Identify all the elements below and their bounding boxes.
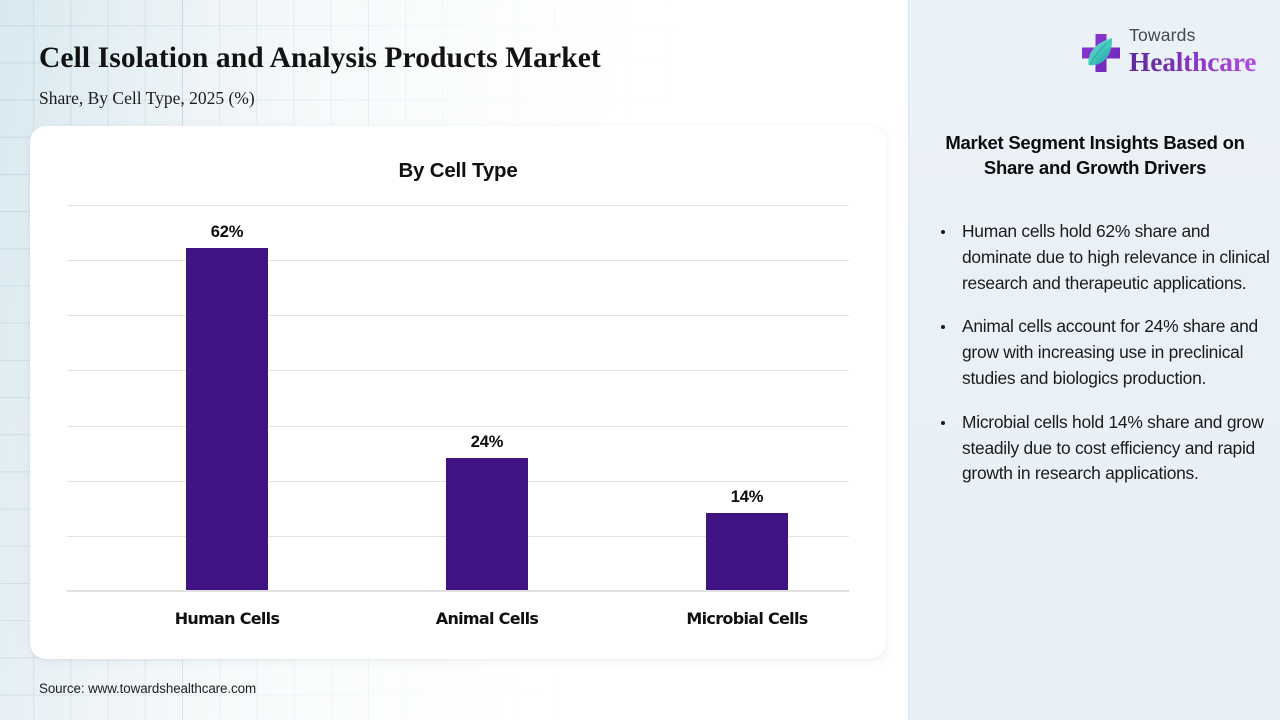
bar-value-label: 14% <box>687 488 807 507</box>
bar-value-label: 62% <box>167 223 287 242</box>
list-item: Animal cells account for 24% share and g… <box>925 314 1271 391</box>
brand-logo: Towards Healthcare <box>1077 24 1253 82</box>
gridline <box>67 315 849 316</box>
x-axis-line <box>67 590 849 591</box>
logo-line-healthcare: Healthcare <box>1129 46 1256 77</box>
page-title: Cell Isolation and Analysis Products Mar… <box>39 42 601 75</box>
gridline <box>67 426 849 427</box>
source-note: Source: www.towardshealthcare.com <box>39 681 256 696</box>
x-axis-label: Microbial Cells <box>662 609 832 628</box>
bar-microbial-cells[interactable] <box>706 513 788 590</box>
list-item: Microbial cells hold 14% share and grow … <box>925 410 1271 487</box>
chart-card: By Cell Type 62%24%14% Human CellsAnimal… <box>30 126 886 659</box>
insights-title: Market Segment Insights Based on Share a… <box>925 130 1265 180</box>
insights-panel: Market Segment Insights Based on Share a… <box>908 0 1280 720</box>
bar-chart-plot: 62%24%14% <box>67 205 849 591</box>
gridline <box>67 205 849 206</box>
bar-human-cells[interactable] <box>186 248 268 590</box>
chart-title: By Cell Type <box>30 159 886 183</box>
logo-line-towards: Towards <box>1129 24 1256 46</box>
x-axis-label: Human Cells <box>142 609 312 628</box>
insight-text: Human cells hold 62% share and dominate … <box>962 221 1270 293</box>
bar-animal-cells[interactable] <box>446 458 528 590</box>
bullet-dot-icon <box>941 325 945 329</box>
gridline <box>67 260 849 261</box>
insights-list: Human cells hold 62% share and dominate … <box>925 219 1271 505</box>
page-subtitle: Share, By Cell Type, 2025 (%) <box>39 88 255 109</box>
bullet-dot-icon <box>941 421 945 425</box>
insight-text: Microbial cells hold 14% share and grow … <box>962 412 1264 484</box>
bar-value-label: 24% <box>427 433 547 452</box>
slide-canvas: Market Segment Insights Based on Share a… <box>0 0 1280 720</box>
x-axis-label: Animal Cells <box>402 609 572 628</box>
cross-leaf-icon <box>1077 29 1125 77</box>
gridline <box>67 591 849 592</box>
gridline <box>67 370 849 371</box>
logo-wordmark: Towards Healthcare <box>1129 24 1256 77</box>
list-item: Human cells hold 62% share and dominate … <box>925 219 1271 296</box>
insight-text: Animal cells account for 24% share and g… <box>962 316 1258 388</box>
bullet-dot-icon <box>941 230 945 234</box>
